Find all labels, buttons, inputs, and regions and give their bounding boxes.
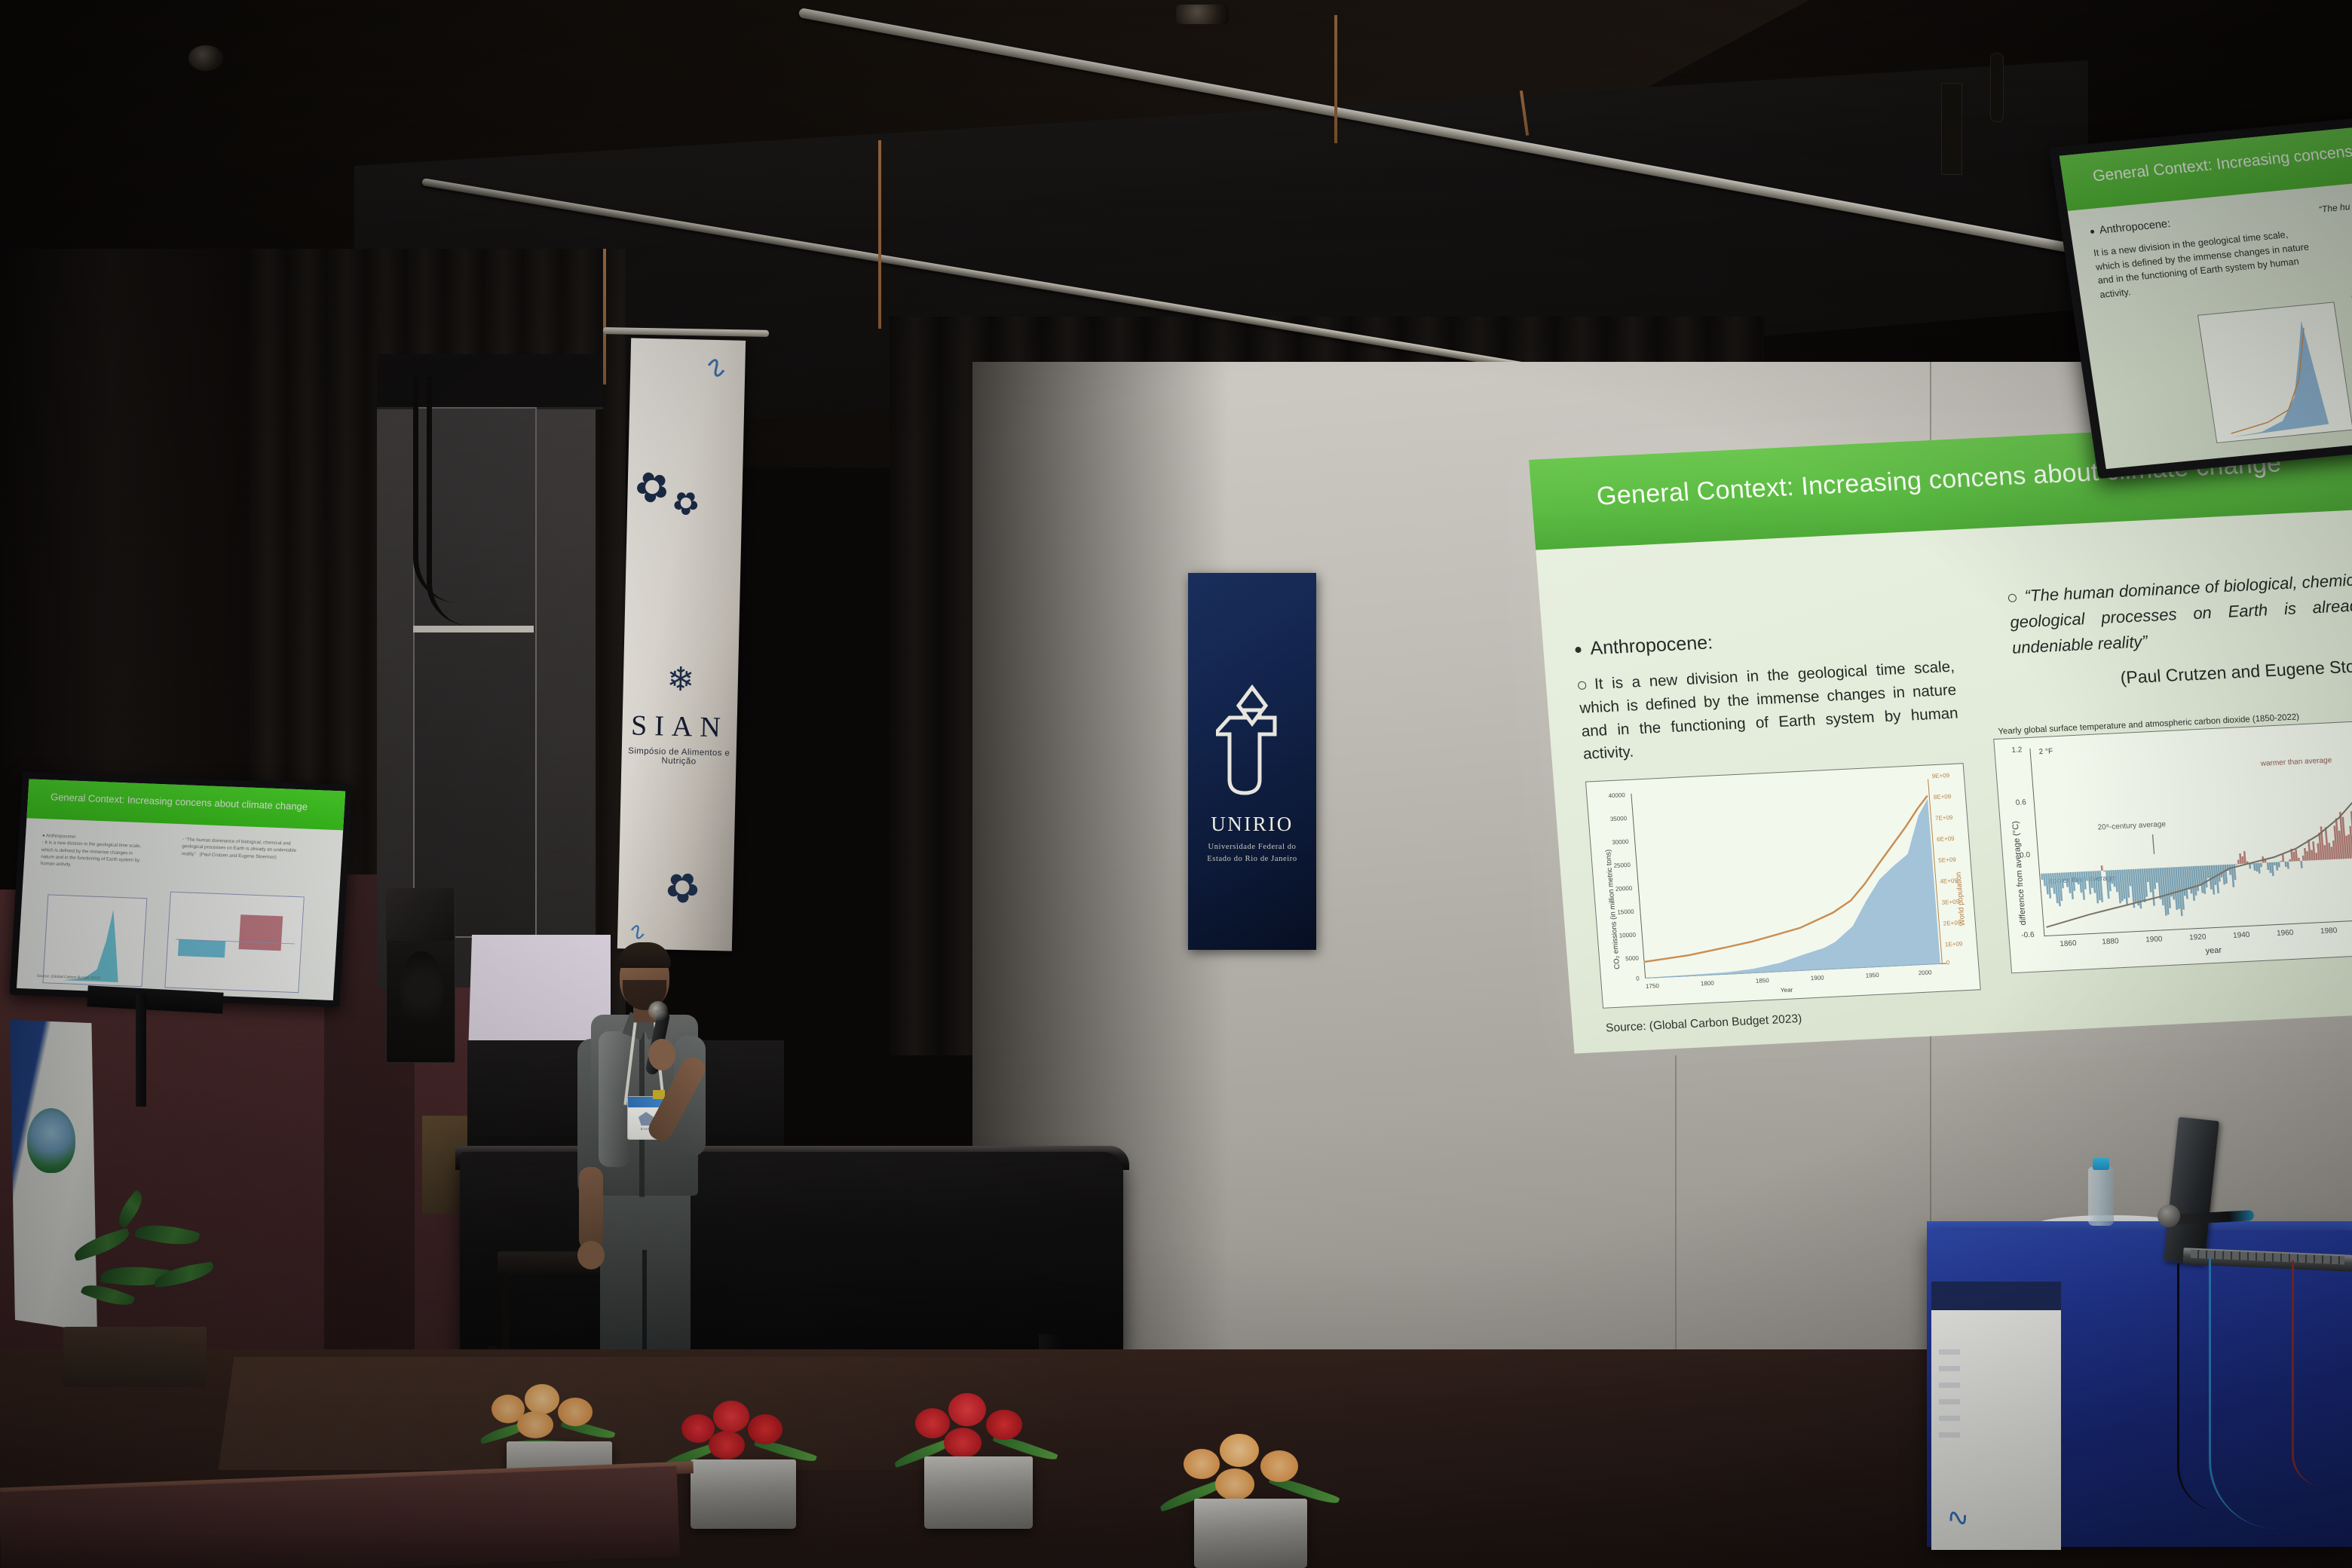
sian-banner-word: SIAN [622, 709, 737, 744]
presenter-right-hand [648, 1039, 675, 1070]
left-monitor-quote-block: ◦ “The human dominance of biological, ch… [182, 836, 304, 862]
monitor-chart-co2 [2197, 302, 2352, 443]
confidence-monitor-right-screen: General Context: Increasing concens abou… [2060, 115, 2352, 469]
leaf-vine-icon: ✿ [657, 861, 709, 914]
flower-head [915, 1408, 950, 1438]
presenter-left-forearm [579, 1167, 603, 1250]
confidence-monitor-left-screen: General Context: Increasing concens abou… [17, 779, 345, 1000]
left-monitor-pole [136, 994, 146, 1107]
unirio-subtitle-line1: Universidade Federal do [1188, 841, 1316, 853]
bullet-circle-icon [2008, 593, 2017, 602]
pa-speaker-horn [386, 888, 454, 941]
sian-banner-subtitle: Simpósio de Alimentos e Nutrição [621, 746, 737, 767]
slide-right-bullet: “The human dominance of biological, chem… [2007, 565, 2352, 694]
flower-head [713, 1401, 749, 1432]
slide-canvas: General Context: Increasing concens abou… [1529, 417, 2352, 1054]
projected-slide: General Context: Increasing concens abou… [1529, 417, 2352, 1054]
unirio-logo-icon [1188, 683, 1316, 800]
monitor-quote-fragment: “The hu geolog realit [2318, 188, 2352, 216]
unirio-banner-subtitle: Universidade Federal do Estado do Rio de… [1188, 841, 1316, 865]
table-microphone-head-icon [2158, 1205, 2180, 1227]
flower-head [558, 1398, 593, 1426]
plant-leaf [153, 1261, 216, 1288]
confidence-monitor-right: General Context: Increasing concens abou… [2049, 106, 2352, 479]
cable-run-red [2292, 1260, 2324, 1487]
flower-head [709, 1431, 745, 1459]
unirio-banner: UNIRIO Universidade Federal do Estado do… [1188, 573, 1316, 950]
slide-source-caption: Source: (Global Carbon Budget 2023) [1606, 1012, 1802, 1036]
hanging-cable [427, 377, 470, 626]
flower-head [944, 1428, 982, 1458]
truss-clamp [1941, 83, 1962, 175]
plant-leaf [72, 1227, 133, 1261]
pa-speaker-woofer-icon [400, 951, 443, 1027]
presenter-left-hand [577, 1241, 605, 1269]
ceiling-downlight-icon [188, 45, 223, 71]
confidence-monitor-left: General Context: Increasing concens abou… [9, 772, 352, 1007]
flower-head [948, 1393, 986, 1426]
slide-bullet-heading: Anthropocene: [1574, 620, 1952, 660]
monitor-bullet-sub: It is a new division in the geological t… [2093, 225, 2319, 302]
flower-planter [1194, 1499, 1307, 1568]
tie-line-rope [603, 249, 606, 384]
microphone-head-icon [648, 1001, 668, 1021]
chart-co2-xlabel: Year [1781, 986, 1793, 994]
ceiling-fixture-icon [1176, 5, 1229, 24]
chart-temperature-ylabel: difference from average (°C) [2011, 821, 2029, 926]
plant-pot [63, 1327, 207, 1387]
flower-head [1184, 1449, 1220, 1479]
slide-bullet-sub: It is a new division in the geological t… [1577, 656, 1961, 767]
presenter: SIAN [570, 941, 721, 1393]
bullet-dot-icon [2090, 229, 2095, 233]
slide-quote-attribution: (Paul Crutzen and Eugene Stoermer) [2014, 654, 2352, 694]
sian-banner: ∿ ✿ ✿ ❄ SIAN Simpósio de Alimentos e Nut… [617, 338, 746, 951]
flower-head [1260, 1450, 1298, 1482]
dna-helix-icon: ∿ [698, 347, 734, 387]
table-banner-mark [1939, 1349, 1960, 1440]
sian-emblem-icon: ❄ [623, 662, 738, 697]
stage-photo-scene: ∿ ✿ ✿ ❄ SIAN Simpósio de Alimentos e Nut… [0, 0, 2352, 1568]
slide-left-bullet: Anthropocene: It is a new division in th… [1574, 620, 1961, 767]
left-monitor-chart-temperature [164, 892, 304, 994]
unirio-subtitle-line2: Estado do Rio de Janeiro [1188, 853, 1316, 865]
flower-head [517, 1411, 553, 1438]
bullet-dot-icon [1575, 647, 1582, 653]
left-monitor-chart-co2 [42, 894, 147, 987]
presenter-hair [618, 942, 671, 968]
flower-head [748, 1414, 782, 1444]
flower-planter [924, 1456, 1033, 1529]
chart-temperature-title: Yearly global surface temperature and at… [1998, 712, 2299, 737]
tie-line-rope [878, 140, 881, 329]
flower-head [1220, 1434, 1259, 1467]
bottle-cap-icon [2093, 1158, 2109, 1170]
flower-head [1215, 1468, 1254, 1500]
flower-head [986, 1410, 1022, 1440]
flower-planter [691, 1459, 796, 1529]
unirio-banner-word: UNIRIO [1188, 813, 1316, 836]
flower-head [525, 1384, 559, 1414]
truss-cable-loop [1990, 53, 2004, 122]
backstage-header-frame [377, 354, 603, 409]
chart-temperature-xlabel: year [2205, 946, 2222, 956]
potted-plant [66, 1153, 225, 1342]
chart-co2-population: CO₂ emissions (in million metric tons) W… [1585, 763, 1981, 1009]
cable-run-blue [2209, 1257, 2294, 1529]
plant-leaf [113, 1190, 149, 1229]
backstage-door-rail [413, 626, 534, 632]
left-monitor-bullet-block: ● Anthropocene:◦ It is a new division in… [41, 832, 149, 871]
tie-line-rope [1334, 15, 1337, 143]
slide-quote: “The human dominance of biological, chem… [2007, 565, 2352, 661]
monitor-slide-body: Anthropocene: It is a new division in th… [2090, 188, 2352, 302]
plant-leaf [134, 1220, 200, 1251]
chart-temperature-anomaly: Yearly global surface temperature and at… [1993, 718, 2352, 974]
bullet-circle-icon [1578, 681, 1587, 691]
wall-seam [1675, 1055, 1677, 1372]
water-bottle [2088, 1167, 2114, 1226]
